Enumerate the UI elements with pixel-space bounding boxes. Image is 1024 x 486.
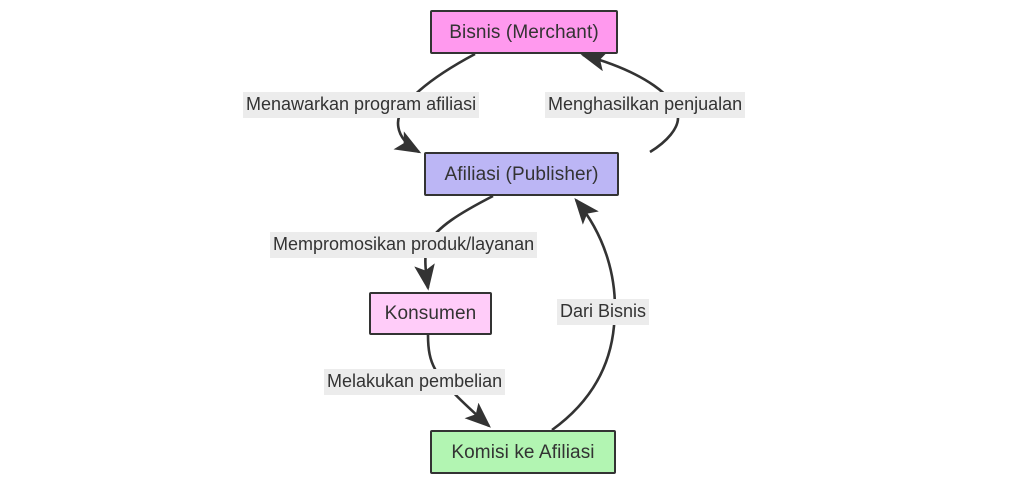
edge-label-sales: Menghasilkan penjualan: [545, 92, 745, 118]
node-label: Bisnis (Merchant): [449, 23, 599, 42]
node-label: Afiliasi (Publisher): [444, 165, 598, 184]
node-konsumen[interactable]: Konsumen: [369, 292, 492, 335]
node-komisi-ke-afiliasi[interactable]: Komisi ke Afiliasi: [430, 430, 616, 474]
node-label: Konsumen: [385, 304, 477, 323]
edge-label-offer: Menawarkan program afiliasi: [243, 92, 479, 118]
node-bisnis-merchant[interactable]: Bisnis (Merchant): [430, 10, 618, 54]
node-label: Komisi ke Afiliasi: [451, 443, 594, 462]
edge-label-promote: Mempromosikan produk/layanan: [270, 232, 537, 258]
edge-label-from-business: Dari Bisnis: [557, 299, 649, 325]
edge-label-purchase: Melakukan pembelian: [324, 369, 505, 395]
node-afiliasi-publisher[interactable]: Afiliasi (Publisher): [424, 152, 619, 196]
flowchart-canvas: Bisnis (Merchant) Afiliasi (Publisher) K…: [0, 0, 1024, 486]
